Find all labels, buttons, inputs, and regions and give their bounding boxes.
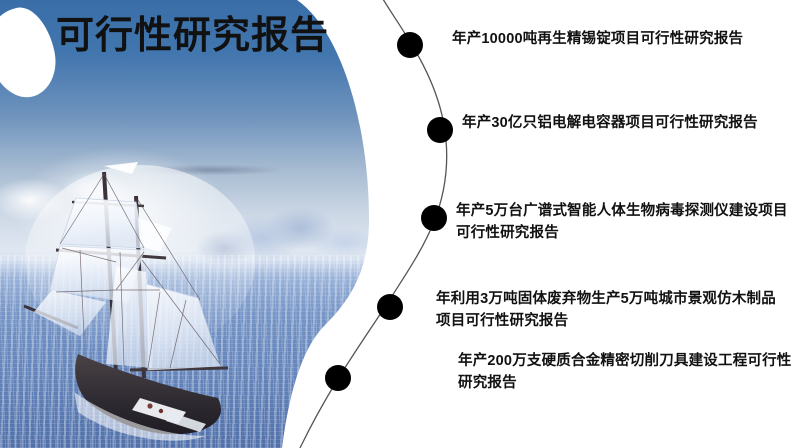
- list-item[interactable]: 年产5万台广谱式智能人体生物病毒探测仪建设项目可行性研究报告: [456, 200, 792, 245]
- list-item[interactable]: 年产30亿只铝电解电容器项目可行性研究报告: [462, 112, 792, 134]
- tall-ship-photo: [0, 0, 400, 448]
- bullet-dot-2: [427, 117, 453, 143]
- list-item[interactable]: 年产10000吨再生精锡锭项目可行性研究报告: [452, 28, 796, 50]
- sailing-ship-illustration: [20, 140, 300, 448]
- bullet-dot-3: [421, 205, 447, 231]
- list-item[interactable]: 年利用3万吨固体废弃物生产5万吨城市景观仿木制品项目可行性研究报告: [436, 288, 788, 333]
- slide-canvas: 可行性研究报告 年产10000吨再生精锡锭项目可行性研究报告 年产30亿只铝电解…: [0, 0, 800, 448]
- bullet-dot-5: [325, 365, 351, 391]
- bullet-dot-1: [397, 32, 423, 58]
- bullet-dot-4: [377, 294, 403, 320]
- page-title: 可行性研究报告: [56, 14, 329, 60]
- list-item[interactable]: 年产200万支硬质合金精密切削刀具建设工程可行性研究报告: [458, 350, 792, 395]
